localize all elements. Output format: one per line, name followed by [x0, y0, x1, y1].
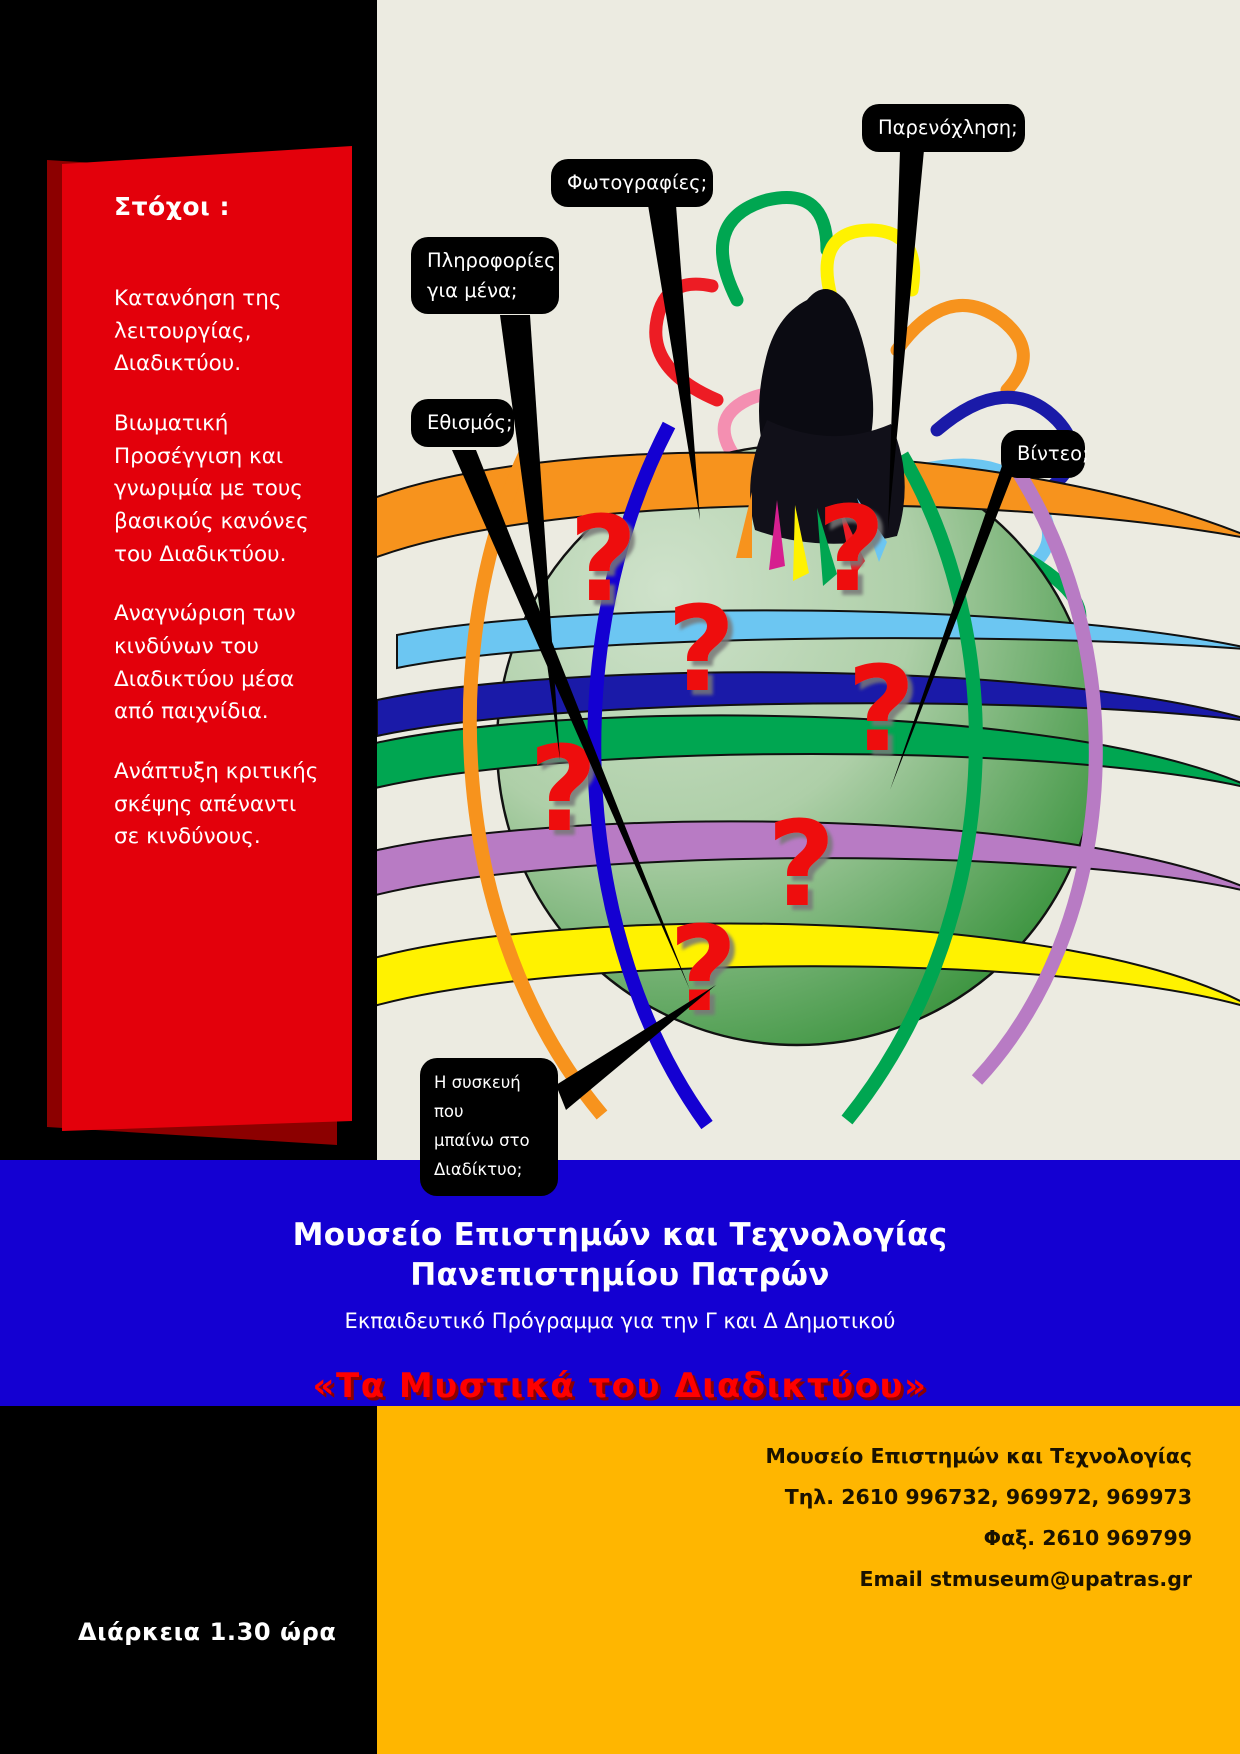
bubble-device[interactable]: Η συσκευή που μπαίνω στο Διαδίκτυο;: [420, 1058, 558, 1196]
contact-line: Φαξ. 2610 969799: [377, 1518, 1192, 1559]
bubble-harassment[interactable]: Παρενόχληση;: [862, 104, 1025, 152]
bubble-info-about-me[interactable]: Πληροφορίες για μένα;: [411, 237, 559, 314]
museum-title-line1: Μουσείο Επιστημών και Τεχνολογίας: [293, 1216, 948, 1256]
bubble-addiction[interactable]: Εθισμός;: [411, 399, 514, 447]
museum-title: Μουσείο Επιστημών και Τεχνολογίας Πανεπι…: [293, 1216, 948, 1295]
museum-title-line2: Πανεπιστημίου Πατρών: [293, 1256, 948, 1296]
bubble-photos[interactable]: Φωτογραφίες;: [551, 159, 713, 207]
program-subtitle: Εκπαιδευτικό Πρόγραμμα για την Γ και Δ Δ…: [345, 1309, 896, 1333]
bubble-video[interactable]: Βίντεο;: [1001, 430, 1085, 478]
poster-root: ? ? ? ? ? ? ? Παρενόχληση; Φωτογραφίες; …: [0, 0, 1240, 1754]
contact-line: Τηλ. 2610 996732, 969972, 969973: [377, 1477, 1192, 1518]
contact-block: Μουσείο Επιστημών και Τεχνολογίας Τηλ. 2…: [377, 1406, 1240, 1754]
blue-banner-content: Μουσείο Επιστημών και Τεχνολογίας Πανεπι…: [0, 1160, 1240, 1406]
contact-line: Email stmuseum@upatras.gr: [377, 1559, 1192, 1600]
contact-line: Μουσείο Επιστημών και Τεχνολογίας: [377, 1436, 1192, 1477]
duration-label: Διάρκεια 1.30 ώρα: [78, 1618, 337, 1646]
program-name: «Τα Μυστικά του Διαδικτύου»: [313, 1366, 928, 1406]
